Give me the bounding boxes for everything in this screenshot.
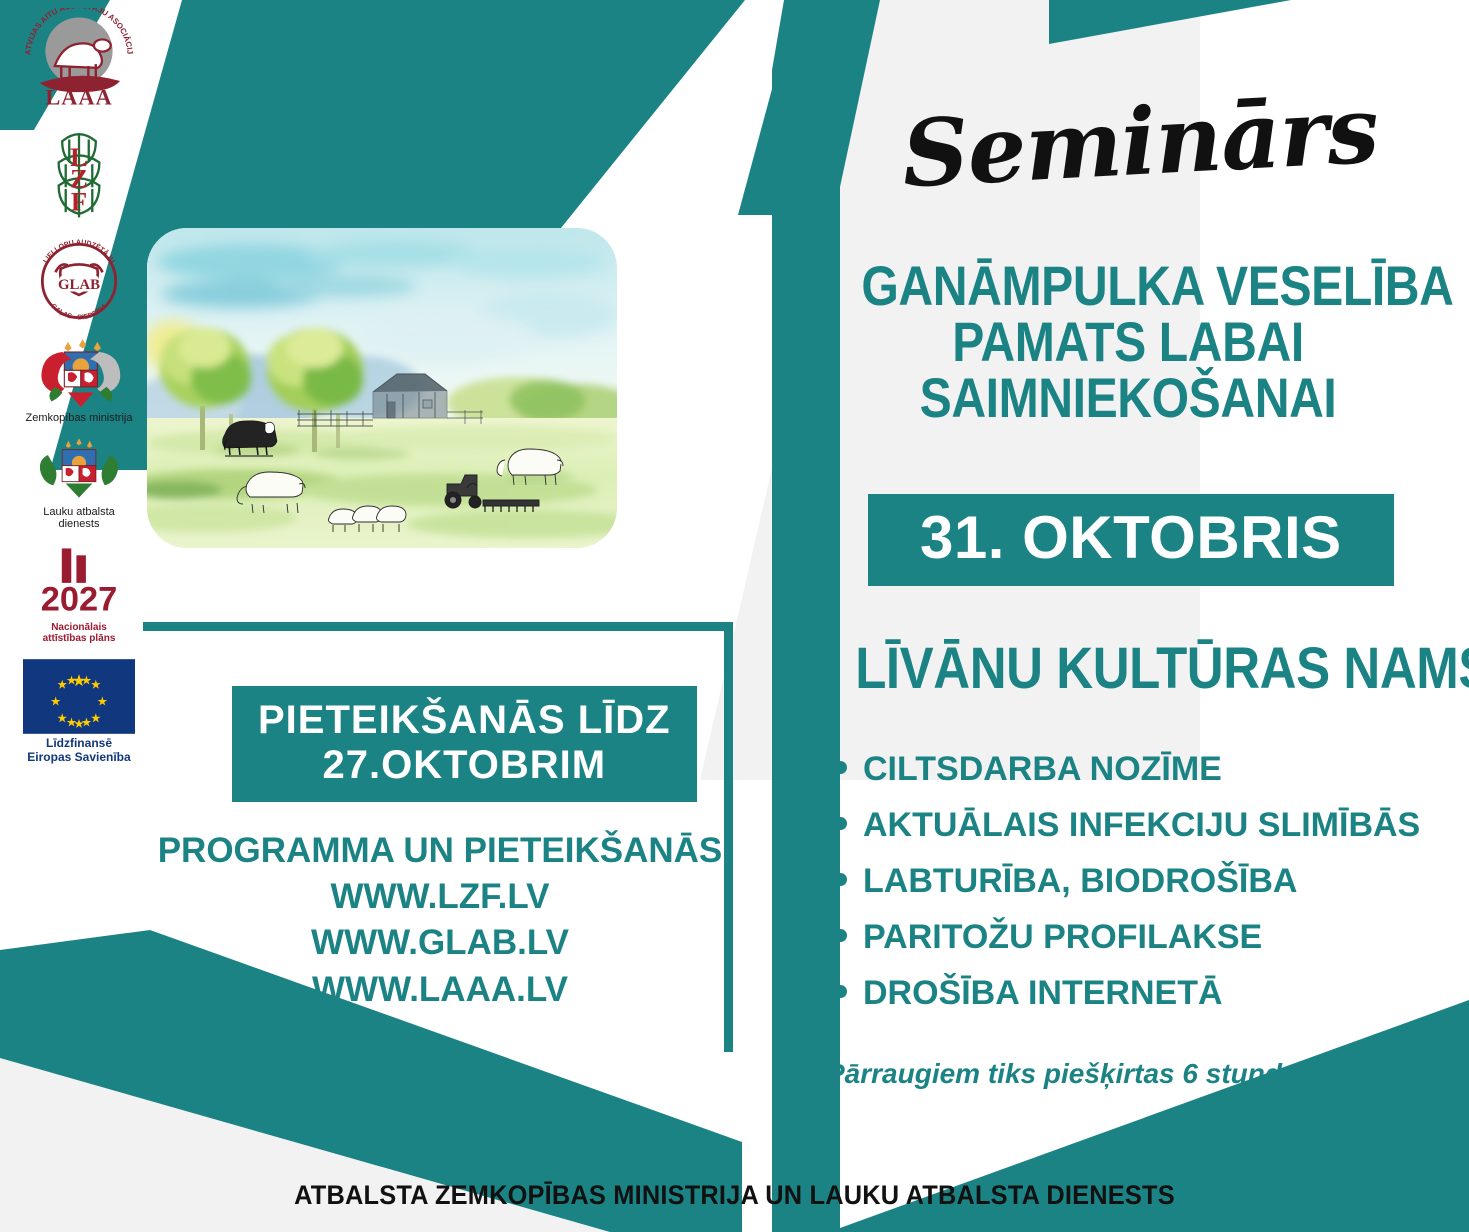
registration-info: PROGRAMMA UN PIETEIKŠANĀS WWW.LZF.LV WWW… (150, 828, 730, 1013)
topic-label: CILTSDARBA NOZĪME (863, 752, 1222, 786)
lad-logo: Lauku atbalstadienests (20, 439, 138, 531)
eu-logo-caption: LīdzfinansēEiropas Savienība (27, 737, 130, 765)
registration-deadline-badge: PIETEIKŠANĀS LĪDZ 27.OKTOBRIM (232, 686, 697, 802)
website-lzf[interactable]: WWW.LZF.LV (150, 874, 730, 920)
eu-logo: LīdzfinansēEiropas Savienība (20, 659, 138, 765)
topic-label: PARITOŽU PROFILAKSE (863, 920, 1262, 954)
bullet-dot-icon (834, 761, 847, 774)
lzf-logo: LZF L Z F (20, 125, 138, 223)
svg-text:F: F (71, 186, 87, 216)
seminar-poster: LATVIJAS AITU AUDZĒTĀJU ASOCIĀCIJA LAAA … (0, 0, 1469, 1232)
list-item: AKTUĀLAIS INFEKCIJU SLIMĪBĀS (834, 808, 1464, 842)
svg-text:LAAA: LAAA (45, 84, 112, 109)
registration-deadline-line2: 27.OKTOBRIM (258, 743, 671, 788)
credit-hours-note: Pārraugiem tiks piešķirtas 6 stundas (826, 1058, 1426, 1090)
lad-logo-caption: Lauku atbalstadienests (43, 506, 115, 531)
registration-deadline-line1: PIETEIKŠANĀS LĪDZ (258, 698, 671, 742)
registration-info-heading: PROGRAMMA UN PIETEIKŠANĀS (150, 828, 730, 874)
list-item: DROŠĪBA INTERNETĀ (834, 976, 1464, 1010)
main-title-line1: GANĀMPULKA VESELĪBA (861, 258, 1394, 314)
zm-logo: Zemkopības ministrija (20, 339, 138, 425)
svg-text:LIELLOPU AUDZĒTĀJU: LIELLOPU AUDZĒTĀJU (42, 239, 115, 264)
farm-illustration (147, 228, 617, 548)
script-seminar-title: Seminārs (878, 82, 1402, 201)
bullet-dot-icon (834, 985, 847, 998)
logo-column: LATVIJAS AITU AUDZĒTĀJU ASOCIĀCIJA LAAA … (16, 8, 142, 765)
main-title-line2: PAMATS LABAI (861, 314, 1394, 370)
list-item: PARITOŽU PROFILAKSE (834, 920, 1464, 954)
bullet-dot-icon (834, 929, 847, 942)
svg-text:2027: 2027 (41, 580, 118, 618)
np2027-logo: 2027 Nacionālaisattīstības plāns (20, 545, 138, 645)
topic-label: DROŠĪBA INTERNETĀ (863, 976, 1223, 1010)
topics-list: CILTSDARBA NOZĪME AKTUĀLAIS INFEKCIJU SL… (834, 752, 1464, 1032)
svg-text:GAĻAS · BIEDRĪBA: GAĻAS · BIEDRĪBA (49, 303, 109, 322)
website-laaa[interactable]: WWW.LAAA.LV (150, 967, 730, 1013)
website-glab[interactable]: WWW.GLAB.LV (150, 920, 730, 966)
list-item: CILTSDARBA NOZĪME (834, 752, 1464, 786)
laaa-logo: LATVIJAS AITU AUDZĒTĀJU ASOCIĀCIJA LAAA (20, 8, 138, 111)
svg-text:GLAB: GLAB (58, 277, 100, 293)
list-item: LABTURĪBA, BIODROŠĪBA (834, 864, 1464, 898)
frame-top-edge (143, 622, 733, 631)
zm-logo-caption: Zemkopības ministrija (26, 412, 133, 425)
bullet-dot-icon (834, 873, 847, 886)
topic-label: AKTUĀLAIS INFEKCIJU SLIMĪBĀS (863, 808, 1420, 842)
np2027-logo-caption: Nacionālaisattīstības plāns (43, 622, 116, 645)
event-date-badge: 31. OKTOBRIS (868, 494, 1394, 586)
main-title-line3: SAIMNIEKOŠANAI (861, 370, 1394, 426)
glab-logo: GLAB LIELLOPU AUDZĒTĀJU GAĻAS · BIEDRĪBA (20, 237, 138, 325)
footer-support-text: ATBALSTA ZEMKOPĪBAS MINISTRIJA UN LAUKU … (44, 1180, 1425, 1211)
main-title: GANĀMPULKA VESELĪBA PAMATS LABAI SAIMNIE… (861, 258, 1394, 426)
bullet-dot-icon (834, 817, 847, 830)
topic-label: LABTURĪBA, BIODROŠĪBA (863, 864, 1297, 898)
venue-name: LĪVĀNU KULTŪRAS NAMS (855, 640, 1401, 698)
